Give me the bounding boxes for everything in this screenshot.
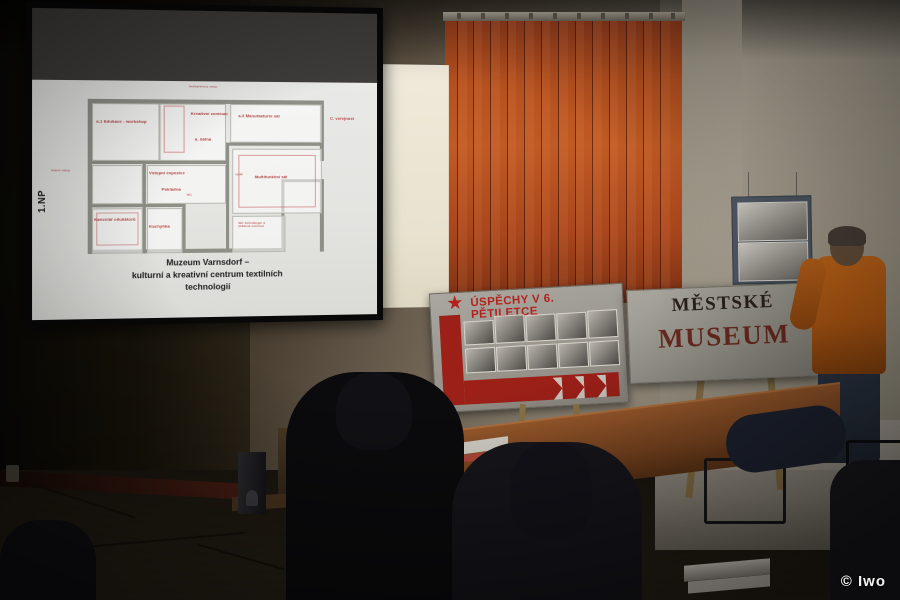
screen-surface: a.1 Edukace - workshop Kreativní centrum… <box>32 8 377 320</box>
seated-attendee-center-head <box>510 442 592 538</box>
room-label-edukace: a.1 Edukace - workshop <box>96 120 146 125</box>
board-photo <box>556 312 587 341</box>
seated-attendee-front-head <box>336 372 412 450</box>
chevron-decor-icon <box>553 377 563 399</box>
museum-sign: MĚSTSKÉ MUSEUM <box>626 282 822 384</box>
speaker-cone-icon <box>246 490 258 506</box>
board-photo <box>496 345 527 372</box>
hanging-wire <box>748 172 749 198</box>
room-label-kancelar-edukatoru: Kancelář edukátorů <box>94 217 138 222</box>
board-photo <box>589 340 620 367</box>
projected-slide: a.1 Edukace - workshop Kreativní centrum… <box>32 80 377 320</box>
presenter-hair <box>828 226 866 246</box>
room-label-vytah: výtah <box>235 173 243 176</box>
board-photo <box>465 347 496 374</box>
hanging-wire <box>796 172 797 198</box>
projection-screen: a.1 Edukace - workshop Kreativní centrum… <box>26 1 383 326</box>
room-label-wc: WC <box>187 194 192 197</box>
board-photo <box>527 343 558 370</box>
screen-empty-area <box>32 8 377 83</box>
room-label-verejnost: C. veřejnost <box>330 117 354 122</box>
presentation-room-photo: a.1 Edukace - workshop Kreativní centrum… <box>0 0 900 600</box>
board-photo <box>587 309 619 339</box>
room-label-vstupni-expozice: Vstupní expozice <box>149 171 185 176</box>
room-label-kuchynka: Kuchyňka <box>149 224 170 229</box>
board-photo <box>463 320 494 346</box>
label-hlavni-vstup: hlavní vstup <box>51 169 69 172</box>
seated-attendee-left-edge <box>0 520 96 600</box>
floor-designation-label: 1.NP <box>36 190 47 213</box>
board-photo <box>494 314 526 344</box>
blinds-track-rail[interactable] <box>443 12 685 21</box>
label-bezbarierovy-vstup: bezbariérový vstup <box>189 85 218 89</box>
board-photo <box>525 313 556 342</box>
chevron-decor-icon <box>575 376 585 398</box>
room-label-multifunkcni-sal: Multifunkční sál <box>255 175 287 179</box>
chevron-decor-icon <box>597 375 607 397</box>
wall-outlet <box>6 465 19 482</box>
propaganda-board: ★ ÚSPĚCHY V 6. PĚTILETCE <box>429 283 629 414</box>
slide-light-spill <box>372 64 449 308</box>
room-label-manufakturni-sal: a.2 Manufakturní sál <box>238 114 279 119</box>
room-label-pokladna: Pokladna <box>162 188 181 193</box>
window-blinds[interactable] <box>445 18 682 303</box>
room-label-kreativni-centrum: Kreativní centrum <box>191 112 228 117</box>
propaganda-photo-grid <box>463 307 618 377</box>
copyright-watermark: © Iwo <box>841 573 886 590</box>
board-photo <box>558 342 589 369</box>
historical-photo <box>737 201 808 241</box>
room-label-wc-schrodinger: WC Schrödinger a úklidová místnost <box>238 222 273 229</box>
room-label-satna: a. šatna <box>195 137 211 142</box>
